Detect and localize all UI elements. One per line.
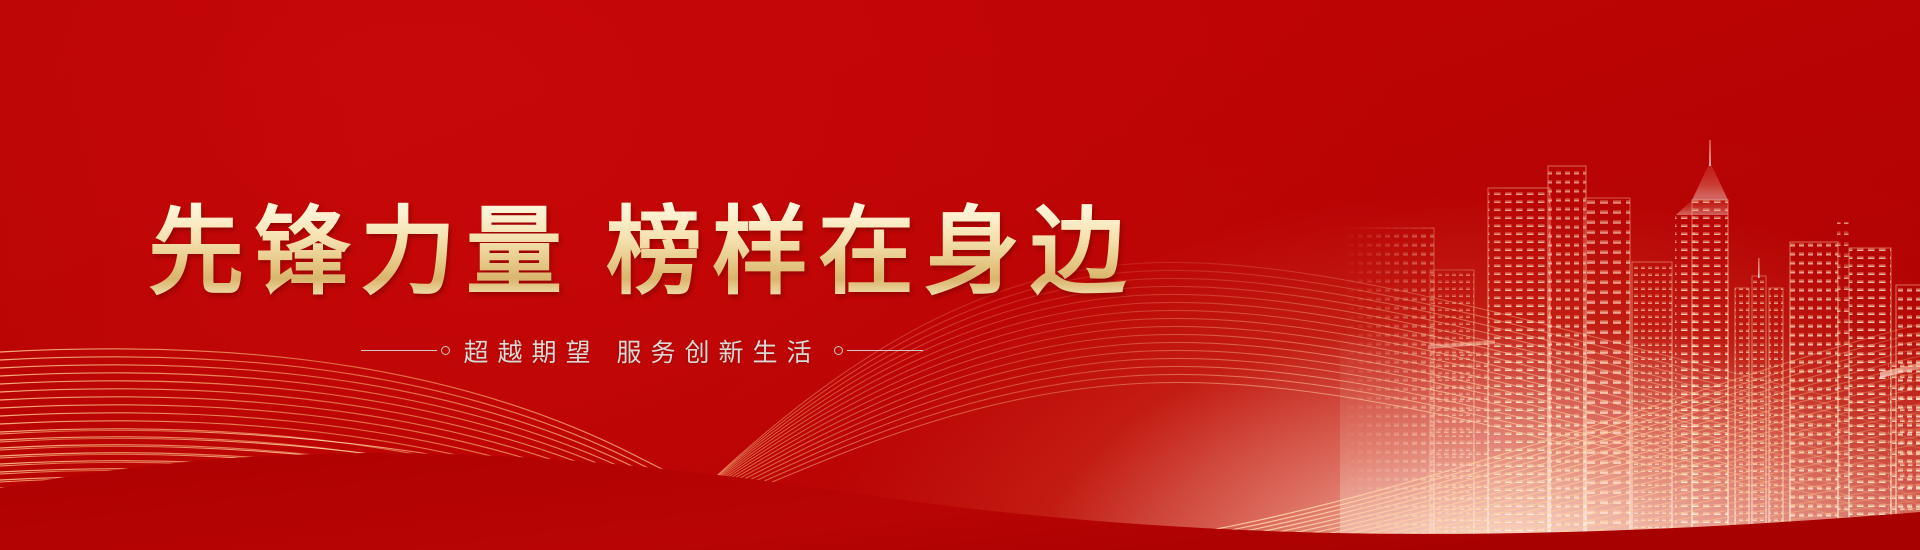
headline-part-1: 先锋力量 <box>148 196 572 308</box>
ring-right-icon <box>834 346 843 355</box>
rule-left-icon <box>361 350 437 351</box>
subtitle-decoration-right <box>834 346 923 355</box>
subtitle-decoration-left <box>361 346 450 355</box>
banner-root: 先锋力量榜样在身边 超越期望 服务创新生活 <box>0 0 1920 550</box>
headline-part-2: 榜样在身边 <box>606 196 1136 308</box>
headline-block: 先锋力量榜样在身边 超越期望 服务创新生活 <box>0 0 1270 550</box>
subtitle-row: 超越期望 服务创新生活 <box>361 333 924 369</box>
page-title: 先锋力量榜样在身边 <box>148 199 1136 307</box>
subtitle: 超越期望 服务创新生活 <box>464 333 821 369</box>
ring-left-icon <box>441 346 450 355</box>
rule-right-icon <box>847 350 923 351</box>
